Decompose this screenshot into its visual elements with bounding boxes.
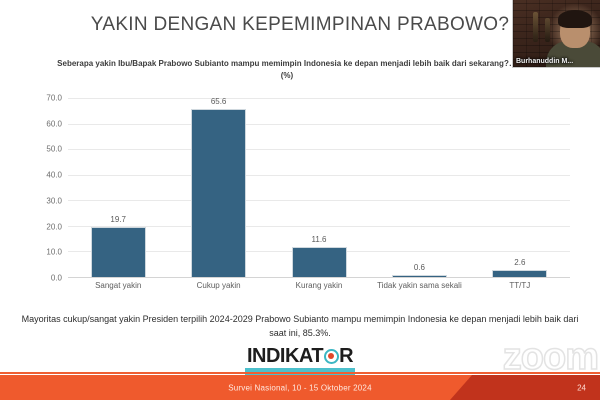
y-axis: 70.060.050.040.030.020.010.00.0 [20,98,66,278]
y-axis-tick-label: 30.0 [46,196,62,205]
logo-text-before: INDIKAT [247,346,323,366]
logo-wordmark: INDIKAT R [247,346,353,366]
webcam-person-hair [558,10,592,28]
webcam-lamp-icon [533,12,538,42]
footer-divider [0,372,600,374]
bar-value-label: 0.6 [414,263,425,272]
bar-value-label: 11.6 [312,235,327,244]
slide-footer: Survei Nasional, 10 - 15 Oktober 2024 24 [0,375,600,400]
y-axis-tick-label: 20.0 [46,222,62,231]
webcam-lamp-secondary-icon [545,18,550,42]
bar-series: 19.765.611.60.62.6 [68,98,570,277]
presentation-slide: YAKIN DENGAN KEPEMIMPINAN PRABOWO? Seber… [0,0,600,400]
bar-group: 11.6 [269,98,369,277]
bar [191,109,246,277]
bar-value-label: 2.6 [514,258,525,267]
eye-icon [324,349,339,364]
logo-text-after: R [339,346,353,366]
bar [492,270,547,277]
page-number: 24 [577,383,586,392]
x-axis-category-label: Cukup yakin [168,281,268,292]
page-title: YAKIN DENGAN KEPEMIMPINAN PRABOWO? [60,14,540,36]
x-axis-category-label: Kurang yakin [269,281,369,292]
y-axis-tick-label: 50.0 [46,145,62,154]
zoom-watermark: zoom [503,338,598,376]
x-axis-category-label: Tidak yakin sama sekali [369,281,469,292]
y-axis-tick-label: 60.0 [46,119,62,128]
x-axis-category-label: TT/TJ [470,281,570,292]
bar-group: 2.6 [470,98,570,277]
x-axis-labels: Sangat yakinCukup yakinKurang yakinTidak… [68,281,570,292]
bar-group: 65.6 [168,98,268,277]
plot-area: 19.765.611.60.62.6 [68,98,570,278]
bar [392,275,447,277]
bar-group: 0.6 [369,98,469,277]
x-axis-category-label: Sangat yakin [68,281,168,292]
bar [292,247,347,277]
y-axis-tick-label: 0.0 [51,274,62,283]
y-axis-tick-label: 70.0 [46,94,62,103]
footer-wedge: 24 [450,375,600,400]
bar-group: 19.7 [68,98,168,277]
y-axis-tick-label: 40.0 [46,171,62,180]
conclusion-text: Mayoritas cukup/sangat yakin Presiden te… [14,313,586,340]
bar-value-label: 65.6 [211,97,227,106]
bar-chart: 70.060.050.040.030.020.010.00.0 19.765.6… [20,98,580,308]
bar-value-label: 19.7 [110,215,126,224]
bar [91,227,146,277]
y-axis-tick-label: 10.0 [46,248,62,257]
webcam-tile[interactable]: Burhanuddin M... [512,0,600,68]
participant-name-label: Burhanuddin M... [516,58,573,65]
slide-subtitle: Seberapa yakin Ibu/Bapak Prabowo Subiant… [52,58,522,83]
